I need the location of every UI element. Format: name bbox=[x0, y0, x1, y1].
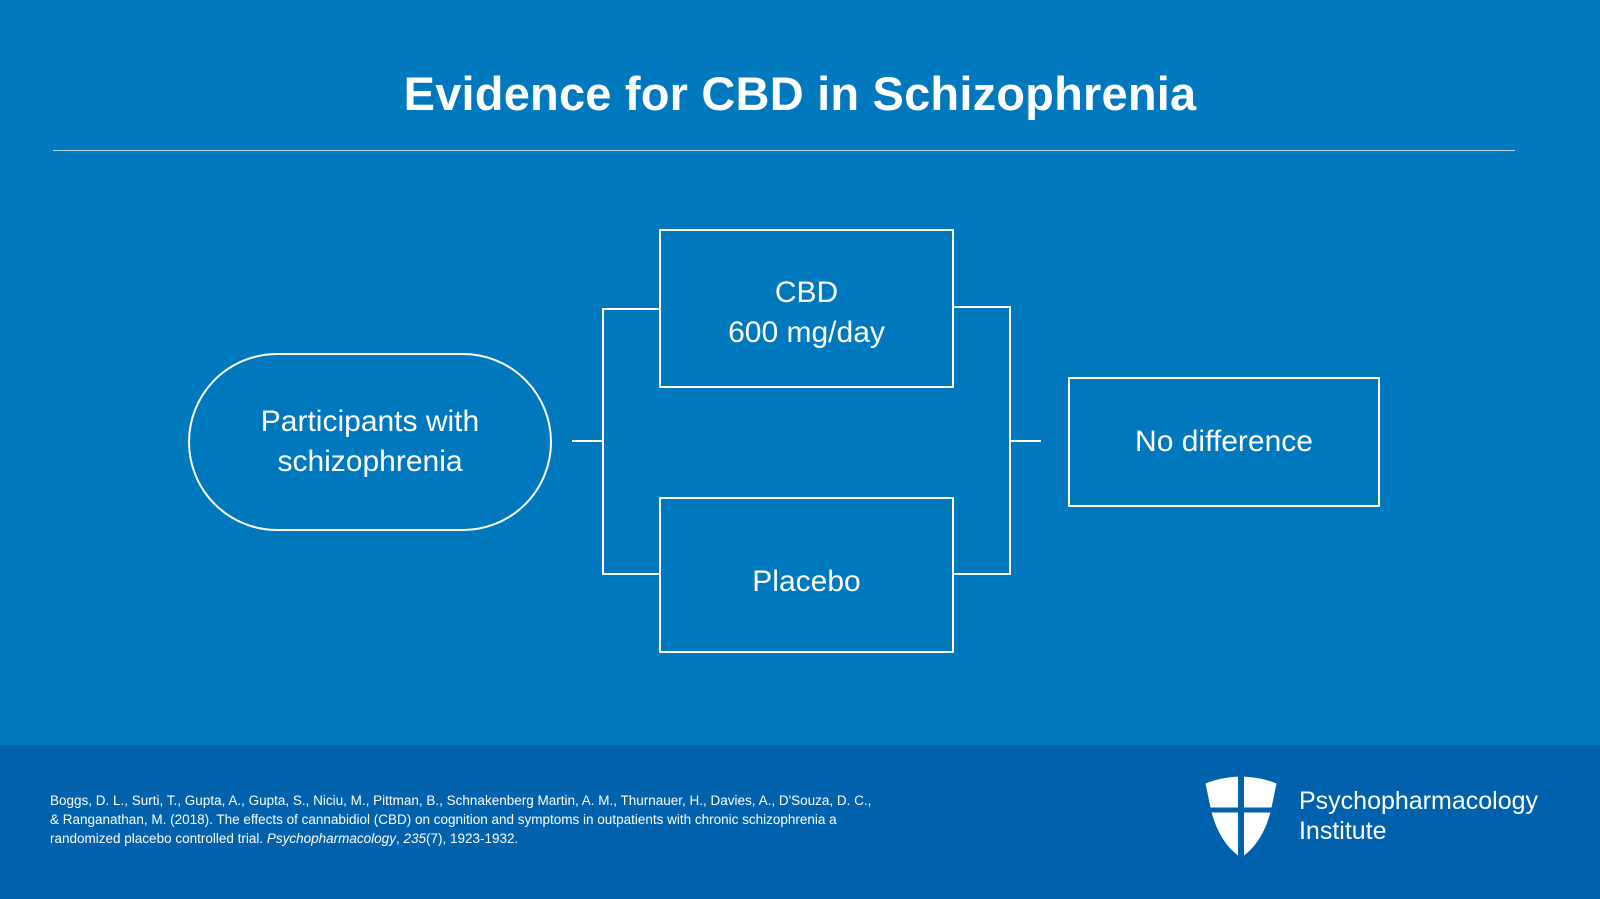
brand-name-line-1: Psychopharmacology bbox=[1299, 786, 1538, 817]
footer-bar: Boggs, D. L., Surti, T., Gupta, A., Gupt… bbox=[0, 745, 1600, 899]
cbd-line-2: 600 mg/day bbox=[728, 316, 885, 349]
citation-part-3: (7), 1923-1932. bbox=[426, 831, 518, 846]
connector-left-arm-bottom bbox=[602, 573, 659, 575]
connector-left-arm-top bbox=[602, 308, 659, 310]
diagram-node-participants: Participants with schizophrenia bbox=[188, 353, 552, 531]
citation-text: Boggs, D. L., Surti, T., Gupta, A., Gupt… bbox=[50, 791, 880, 848]
diagram-node-placebo-label: Placebo bbox=[752, 562, 860, 602]
connector-right-arm-bottom bbox=[954, 573, 1011, 575]
brand-logo-text: Psychopharmacology Institute bbox=[1299, 786, 1538, 847]
diagram-node-cbd: CBD 600 mg/day bbox=[659, 229, 954, 388]
diagram-node-placebo: Placebo bbox=[659, 497, 954, 653]
brand-name-line-2: Institute bbox=[1299, 816, 1538, 847]
connector-left-spine bbox=[602, 308, 604, 575]
diagram-node-outcome-label: No difference bbox=[1135, 422, 1313, 462]
cbd-line-1: CBD bbox=[775, 276, 838, 309]
diagram-node-outcome: No difference bbox=[1068, 377, 1380, 507]
diagram-node-cbd-label: CBD 600 mg/day bbox=[728, 273, 885, 352]
connector-left-stem bbox=[572, 440, 604, 442]
diagram-node-participants-label: Participants with schizophrenia bbox=[261, 402, 479, 481]
participants-line-1: Participants with bbox=[261, 405, 479, 438]
participants-line-2: schizophrenia bbox=[277, 445, 462, 478]
brand-logo: Psychopharmacology Institute bbox=[1201, 773, 1538, 859]
connector-right-stem bbox=[1009, 440, 1041, 442]
citation-journal: Psychopharmacology bbox=[267, 831, 396, 846]
slide-canvas: Evidence for CBD in Schizophrenia Partic… bbox=[0, 0, 1600, 899]
connector-right-arm-top bbox=[954, 306, 1011, 308]
flow-diagram: Participants with schizophrenia CBD 600 … bbox=[0, 0, 1600, 745]
citation-volume: 235 bbox=[403, 831, 426, 846]
shield-quartered-icon bbox=[1201, 773, 1281, 859]
